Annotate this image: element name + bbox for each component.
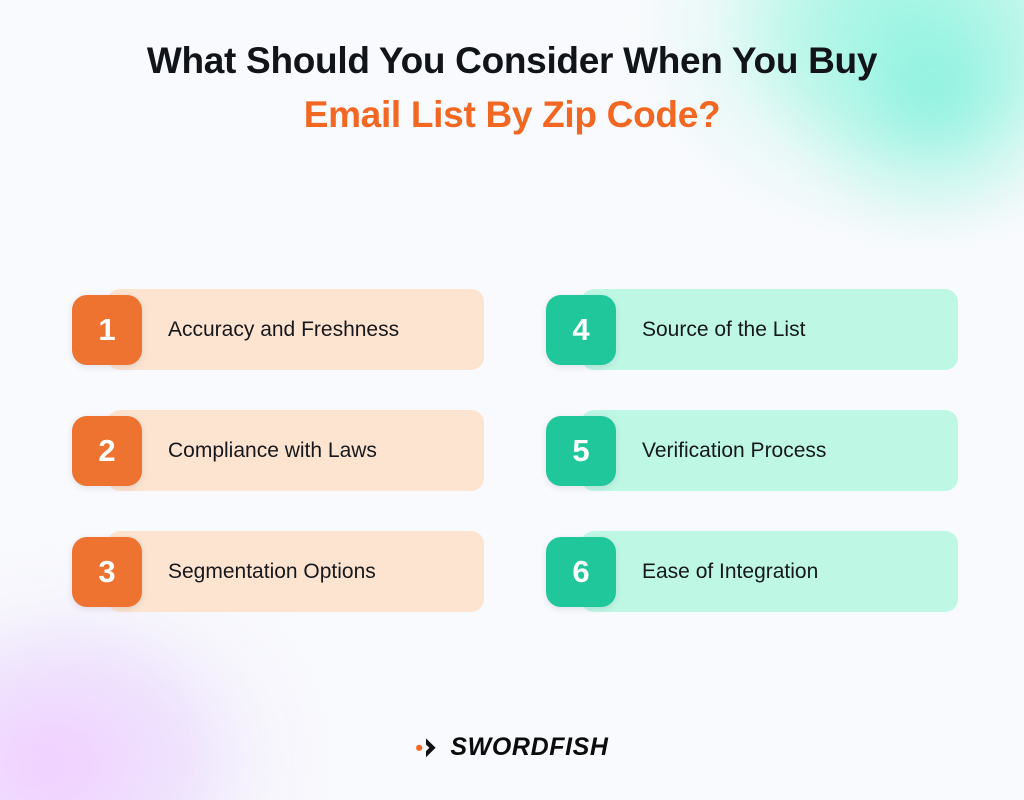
list-item-label: Accuracy and Freshness: [168, 318, 399, 342]
list-item-number-badge: 6: [546, 537, 616, 607]
list-item-label: Ease of Integration: [642, 560, 818, 584]
page-title: What Should You Consider When You Buy Em…: [0, 42, 1024, 133]
infographic-canvas: What Should You Consider When You Buy Em…: [0, 0, 1024, 800]
list-item[interactable]: 1 Accuracy and Freshness: [72, 289, 484, 370]
list-item-number-badge: 3: [72, 537, 142, 607]
list-item-number-badge: 5: [546, 416, 616, 486]
list-item-label: Segmentation Options: [168, 560, 376, 584]
list-item[interactable]: 2 Compliance with Laws: [72, 410, 484, 491]
list-item-number-badge: 2: [72, 416, 142, 486]
list-item-label: Compliance with Laws: [168, 439, 377, 463]
list-item[interactable]: 5 Verification Process: [546, 410, 958, 491]
brand-logo: SWORDFISH: [0, 733, 1024, 762]
background-glow-bottom-left-core: [0, 635, 190, 800]
list-item-number-badge: 4: [546, 295, 616, 365]
list-item[interactable]: 4 Source of the List: [546, 289, 958, 370]
list-item-number-badge: 1: [72, 295, 142, 365]
list-item[interactable]: 3 Segmentation Options: [72, 531, 484, 612]
brand-name: SWORDFISH: [450, 733, 608, 762]
list-item[interactable]: 6 Ease of Integration: [546, 531, 958, 612]
chevron-right-icon: [415, 736, 441, 760]
list-item-label: Verification Process: [642, 439, 826, 463]
checklist-columns: 1 Accuracy and Freshness 2 Compliance wi…: [72, 289, 958, 612]
list-item-label: Source of the List: [642, 318, 805, 342]
page-title-line-1: What Should You Consider When You Buy: [0, 42, 1024, 79]
checklist-column-left: 1 Accuracy and Freshness 2 Compliance wi…: [72, 289, 484, 612]
checklist-column-right: 4 Source of the List 5 Verification Proc…: [546, 289, 958, 612]
page-title-line-2: Email List By Zip Code?: [0, 96, 1024, 133]
